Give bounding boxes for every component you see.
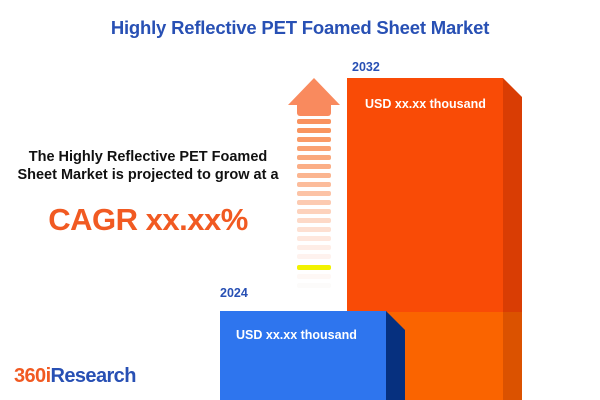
bar-2024 [220, 311, 405, 400]
arrow-stripe-11 [297, 218, 331, 223]
arrow-stripe-0 [297, 119, 331, 124]
arrow-stripe-1 [297, 128, 331, 133]
arrow-stripe-12 [297, 227, 331, 232]
arrow-stripe-10 [297, 209, 331, 214]
arrow-stripe-13 [297, 236, 331, 241]
logo-text-360: 360 [14, 365, 46, 387]
arrow-stripe-2 [297, 137, 331, 142]
arrow-stripe-5 [297, 164, 331, 169]
arrow-stripe-18 [297, 283, 331, 288]
year-label-2032: 2032 [352, 60, 380, 74]
arrow-stripe-6 [297, 173, 331, 178]
cagr-value: CAGR xx.xx% [14, 202, 282, 238]
logo-text-research: Research [51, 365, 136, 387]
market-statement: The Highly Reflective PET Foamed Sheet M… [14, 148, 282, 184]
arrow-stripe-8 [297, 191, 331, 196]
arrow-head [288, 78, 340, 105]
arrow-stripe-14 [297, 245, 331, 250]
infographic-canvas: Highly Reflective PET Foamed Sheet Marke… [0, 0, 600, 400]
page-title: Highly Reflective PET Foamed Sheet Marke… [0, 17, 600, 39]
bar-2024-front-face [220, 311, 386, 400]
year-label-2024: 2024 [220, 286, 248, 300]
bar-2032-side-face-lower [503, 312, 522, 400]
bar-2024-side-face [386, 311, 405, 400]
arrow-stripe-4 [297, 155, 331, 160]
arrow-stripe-17 [297, 274, 331, 279]
bar-value-2032: USD xx.xx thousand [365, 97, 486, 111]
growth-arrow-icon [288, 78, 340, 293]
arrow-stripe-3 [297, 146, 331, 151]
arrow-stripe-15 [297, 254, 331, 259]
brand-logo: 360iResearch [14, 365, 136, 388]
arrow-stripe-7 [297, 182, 331, 187]
arrow-stripe-16 [297, 265, 331, 270]
arrow-neck [297, 104, 331, 116]
arrow-stripe-9 [297, 200, 331, 205]
bar-value-2024: USD xx.xx thousand [236, 328, 357, 342]
